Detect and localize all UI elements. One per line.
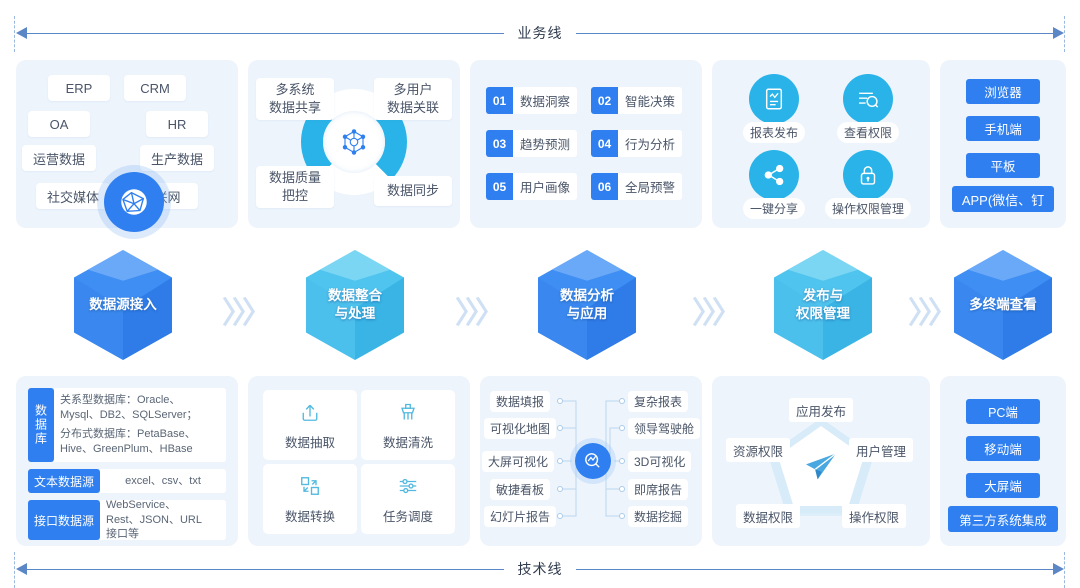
stage-hex-data-analysis[interactable]: 数据分析 与应用 [532,243,642,367]
terminal-chip-tablet[interactable]: 平板 [966,153,1040,178]
datasource-row-database[interactable]: 数据库 关系型数据库：Oracle、 Mysql、DB2、SQLServer； … [28,388,226,462]
etl-item-scheduler[interactable]: 任务调度 [361,464,455,534]
permission-node-operation[interactable]: 操作权限 [842,504,906,528]
panel-data-analysis: 01 数据洞察 02 智能决策 03 趋势预测 04 行为分析 05 用户画像 … [470,60,702,228]
mindmap-right-item-4[interactable]: 即席报告 [628,479,688,500]
integration-label-multi-user-line1: 多用户 [393,81,432,99]
integration-label-multi-system: 多系统 数据共享 [256,78,334,120]
datasource-db-line4: Hive、GreenPlum、HBase [60,442,220,457]
stage-hex-label-3-line2: 与应用 [560,305,614,323]
stage-hex-label-4-line2: 权限管理 [796,305,850,323]
integration-label-sync-line1: 数据同步 [387,182,439,200]
datasource-value-database: 关系型数据库：Oracle、 Mysql、DB2、SQLServer； 分布式数… [54,388,226,462]
stage-hex-multi-terminal[interactable]: 多终端查看 [948,243,1058,367]
publish-item-view-permission[interactable]: 查看权限 [820,74,916,143]
source-tag-crm[interactable]: CRM [124,75,186,101]
analysis-item-02-label: 智能决策 [618,87,682,114]
permission-node-data[interactable]: 数据权限 [736,504,800,528]
publish-item-view-permission-label: 查看权限 [837,122,899,143]
report-chart-icon [749,74,799,124]
stage-hex-label-2-line2: 与处理 [328,305,382,323]
view-search-icon [843,74,893,124]
stage-hex-label-4-line1: 发布与 [796,287,850,305]
publish-item-share[interactable]: 一键分享 [726,150,822,219]
etl-item-transform-label: 数据转换 [285,506,335,525]
integration-label-quality-line2: 把控 [282,187,308,205]
transform-icon [298,474,322,501]
analysis-item-03[interactable]: 03 趋势预测 [486,130,581,157]
business-line-axis: 业务线 [0,16,1080,52]
technology-line-axis: 技术线 [0,552,1080,588]
mindmap-left-item-5[interactable]: 幻灯片报告 [484,506,556,527]
etl-item-scheduler-label: 任务调度 [383,506,433,525]
terminal-chip-mobile[interactable]: 手机端 [966,116,1040,141]
stage-chevron-2: 〉〉〉 [455,288,500,332]
datasource-key-api: 接口数据源 [28,500,100,540]
terminal-chip-browser[interactable]: 浏览器 [966,79,1040,104]
datasource-db-line2: Mysql、DB2、SQLServer； [60,408,220,423]
publish-item-report-label: 报表发布 [743,122,805,143]
datasource-db-line1: 关系型数据库：Oracle、 [60,393,220,408]
business-line-label: 业务线 [0,23,1080,43]
datasource-value-text: excel、csv、txt [100,469,226,493]
stage-hex-label-3: 数据分析 与应用 [532,243,642,367]
datasource-key-text: 文本数据源 [28,469,100,493]
stage-hex-label-3-line1: 数据分析 [560,287,614,305]
source-tag-erp[interactable]: ERP [48,75,110,101]
stage-chevron-3: 〉〉〉 [692,288,737,332]
tech-terminal-chip-thirdparty[interactable]: 第三方系统集成 [948,506,1058,532]
source-tag-oa[interactable]: OA [28,111,90,137]
datasource-db-line3: 分布式数据库：PetaBase、 [60,427,220,442]
etl-item-clean[interactable]: 数据清洗 [361,390,455,460]
terminal-chip-app[interactable]: APP(微信、钉 [952,186,1054,212]
tech-terminal-chip-mobile[interactable]: 移动端 [966,436,1040,461]
mindmap-right-item-2[interactable]: 领导驾驶舱 [628,418,700,439]
panel-publish-permissions: 报表发布 查看权限 一键分享 [712,60,930,228]
datasource-api-line3: 接口等 [106,527,220,542]
datasource-api-line2: Rest、JSON、URL [106,513,220,528]
integration-label-quality: 数据质量 把控 [256,166,334,208]
clean-brush-icon [396,400,420,427]
panel-tech-permissions: 应用发布 资源权限 用户管理 数据权限 操作权限 [712,376,930,546]
mindmap-right-item-3[interactable]: 3D可视化 [628,451,691,472]
panel-tech-datasources: 数据库 关系型数据库：Oracle、 Mysql、DB2、SQLServer； … [16,376,238,546]
panel-tech-etl: 数据抽取 数据清洗 数据转换 [248,376,470,546]
analysis-item-03-num: 03 [486,130,513,157]
etl-item-extract[interactable]: 数据抽取 [263,390,357,460]
integration-label-multi-user: 多用户 数据关联 [374,78,452,120]
stage-hex-label-5: 多终端查看 [948,243,1058,367]
panel-tech-analysis-mindmap: 数据填报 可视化地图 大屏可视化 敏捷看板 幻灯片报告 复杂报表 领导驾驶舱 3… [480,376,702,546]
publish-item-report[interactable]: 报表发布 [726,74,822,143]
analysis-item-06-num: 06 [591,173,618,200]
stage-hex-label-1: 数据源接入 [68,243,178,367]
stage-chevron-4: 〉〉〉 [908,288,953,332]
tech-terminal-chip-pc[interactable]: PC端 [966,399,1040,424]
mindmap-left-item-4[interactable]: 敏捷看板 [490,479,550,500]
etl-item-transform[interactable]: 数据转换 [263,464,357,534]
mindmap-left-item-3[interactable]: 大屏可视化 [482,451,554,472]
panel-tech-terminals: PC端 移动端 大屏端 第三方系统集成 [940,376,1066,546]
analysis-item-05-num: 05 [486,173,513,200]
source-tag-production[interactable]: 生产数据 [140,145,214,171]
data-node-icon [323,111,385,173]
panel-data-integration: 多系统 数据共享 多用户 数据关联 数据质量 把控 数据同步 [248,60,460,228]
source-tag-operations[interactable]: 运营数据 [22,145,96,171]
etl-item-extract-label: 数据抽取 [285,432,335,451]
technology-line-label: 技术线 [0,559,1080,579]
datasource-api-line1: WebService、 [106,498,220,513]
mindmap-right-item-5[interactable]: 数据挖掘 [628,506,688,527]
stage-chevron-1: 〉〉〉 [222,288,267,332]
publish-item-share-label: 一键分享 [743,198,805,219]
stage-hex-label-2-line1: 数据整合 [328,287,382,305]
analysis-item-05-label: 用户画像 [513,173,577,200]
analysis-item-01[interactable]: 01 数据洞察 [486,87,581,114]
integration-label-sync: 数据同步 [374,176,452,206]
integration-label-quality-line1: 数据质量 [269,169,321,187]
scheduler-icon [396,474,420,501]
stage-hex-publish[interactable]: 发布与 权限管理 [768,243,878,367]
analysis-item-01-label: 数据洞察 [513,87,577,114]
tech-terminal-chip-bigscreen[interactable]: 大屏端 [966,473,1040,498]
lock-icon [843,150,893,200]
panel-data-sources: ERP CRM OA HR 运营数据 生产数据 社交媒体 互联网 [16,60,238,228]
source-tag-social-media[interactable]: 社交媒体 [36,183,110,209]
analysis-item-02-num: 02 [591,87,618,114]
analysis-item-06-label: 全局预警 [618,173,682,200]
stage-hex-label-2: 数据整合 与处理 [300,243,410,367]
analysis-item-02[interactable]: 02 智能决策 [591,87,686,114]
integration-label-multi-system-line1: 多系统 [275,81,314,99]
datasource-value-api: WebService、 Rest、JSON、URL 接口等 [100,500,226,540]
infographic-root: 业务线 ERP CRM OA HR 运营数据 生产数据 社交媒体 互联网 [0,0,1080,588]
integration-label-multi-user-line2: 数据关联 [387,99,439,117]
analysis-item-06[interactable]: 06 全局预警 [591,173,686,200]
integration-label-multi-system-line2: 数据共享 [269,99,321,117]
share-nodes-icon [749,150,799,200]
datasource-text-line1: excel、csv、txt [125,474,201,489]
analysis-item-03-label: 趋势预测 [513,130,577,157]
stage-hex-data-integration[interactable]: 数据整合 与处理 [300,243,410,367]
analysis-item-04-label: 行为分析 [618,130,682,157]
permission-node-app-publish[interactable]: 应用发布 [789,398,853,422]
globe-network-icon [104,172,164,232]
stage-hex-label-4: 发布与 权限管理 [768,243,878,367]
mindmap-left-item-2[interactable]: 可视化地图 [484,418,556,439]
analytics-search-icon [575,443,611,479]
stage-hex-data-source[interactable]: 数据源接入 [68,243,178,367]
publish-item-operation-permission-label: 操作权限管理 [825,198,911,219]
permission-node-resource[interactable]: 资源权限 [726,438,790,462]
permission-node-user-mgmt[interactable]: 用户管理 [849,438,913,462]
upload-box-icon [298,400,322,427]
publish-item-operation-permission[interactable]: 操作权限管理 [820,150,916,219]
datasource-row-api[interactable]: 接口数据源 WebService、 Rest、JSON、URL 接口等 [28,500,226,540]
analysis-item-04[interactable]: 04 行为分析 [591,130,686,157]
analysis-item-04-num: 04 [591,130,618,157]
mindmap-right-item-1[interactable]: 复杂报表 [628,391,688,412]
datasource-row-text[interactable]: 文本数据源 excel、csv、txt [28,469,226,493]
panel-business-terminals: 浏览器 手机端 平板 APP(微信、钉 [940,60,1066,228]
analysis-item-05[interactable]: 05 用户画像 [486,173,581,200]
datasource-key-database: 数据库 [28,388,54,462]
analysis-item-01-num: 01 [486,87,513,114]
etl-item-clean-label: 数据清洗 [383,432,433,451]
mindmap-left-item-1[interactable]: 数据填报 [490,391,550,412]
source-tag-hr[interactable]: HR [146,111,208,137]
